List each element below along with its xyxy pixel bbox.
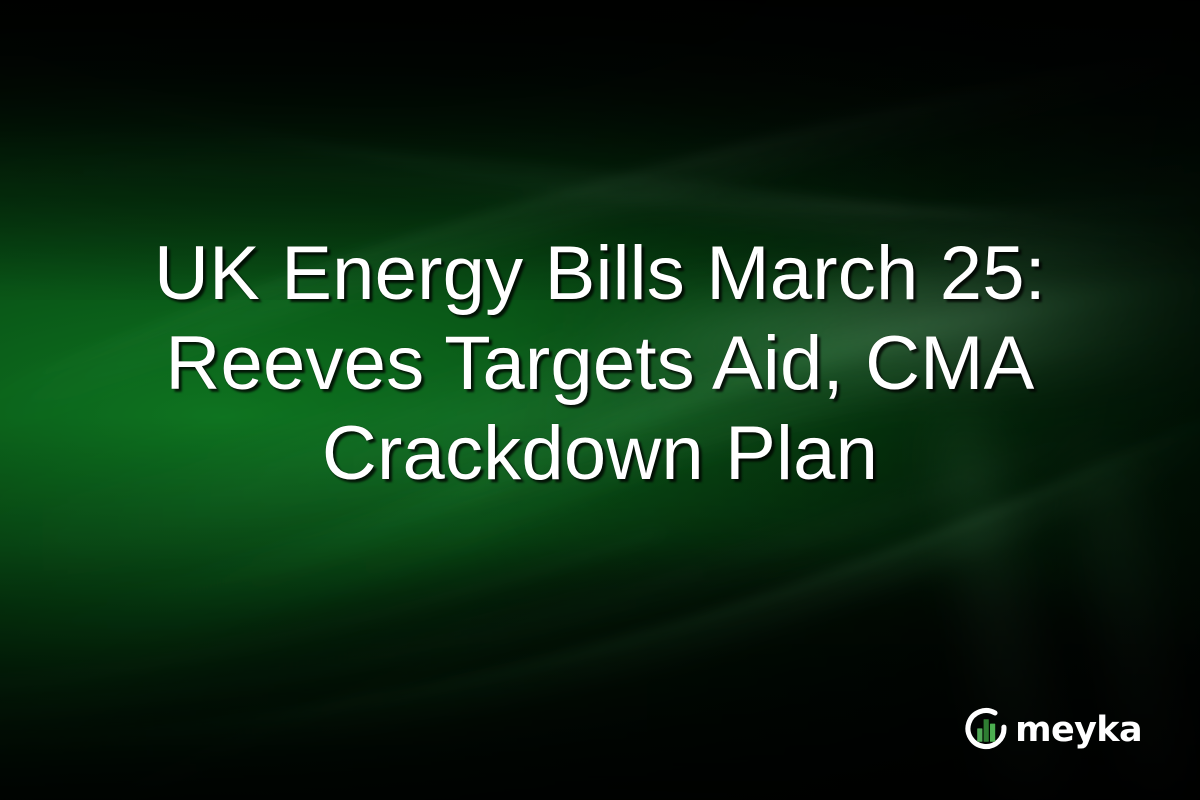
banner-card: UK Energy Bills March 25: Reeves Targets… [0, 0, 1200, 800]
page-title: UK Energy Bills March 25: Reeves Targets… [0, 229, 1200, 499]
brand-logo[interactable]: meyka [963, 706, 1142, 752]
brand-wordmark: meyka [1015, 713, 1142, 748]
meyka-circle-bars-icon [963, 706, 1009, 752]
